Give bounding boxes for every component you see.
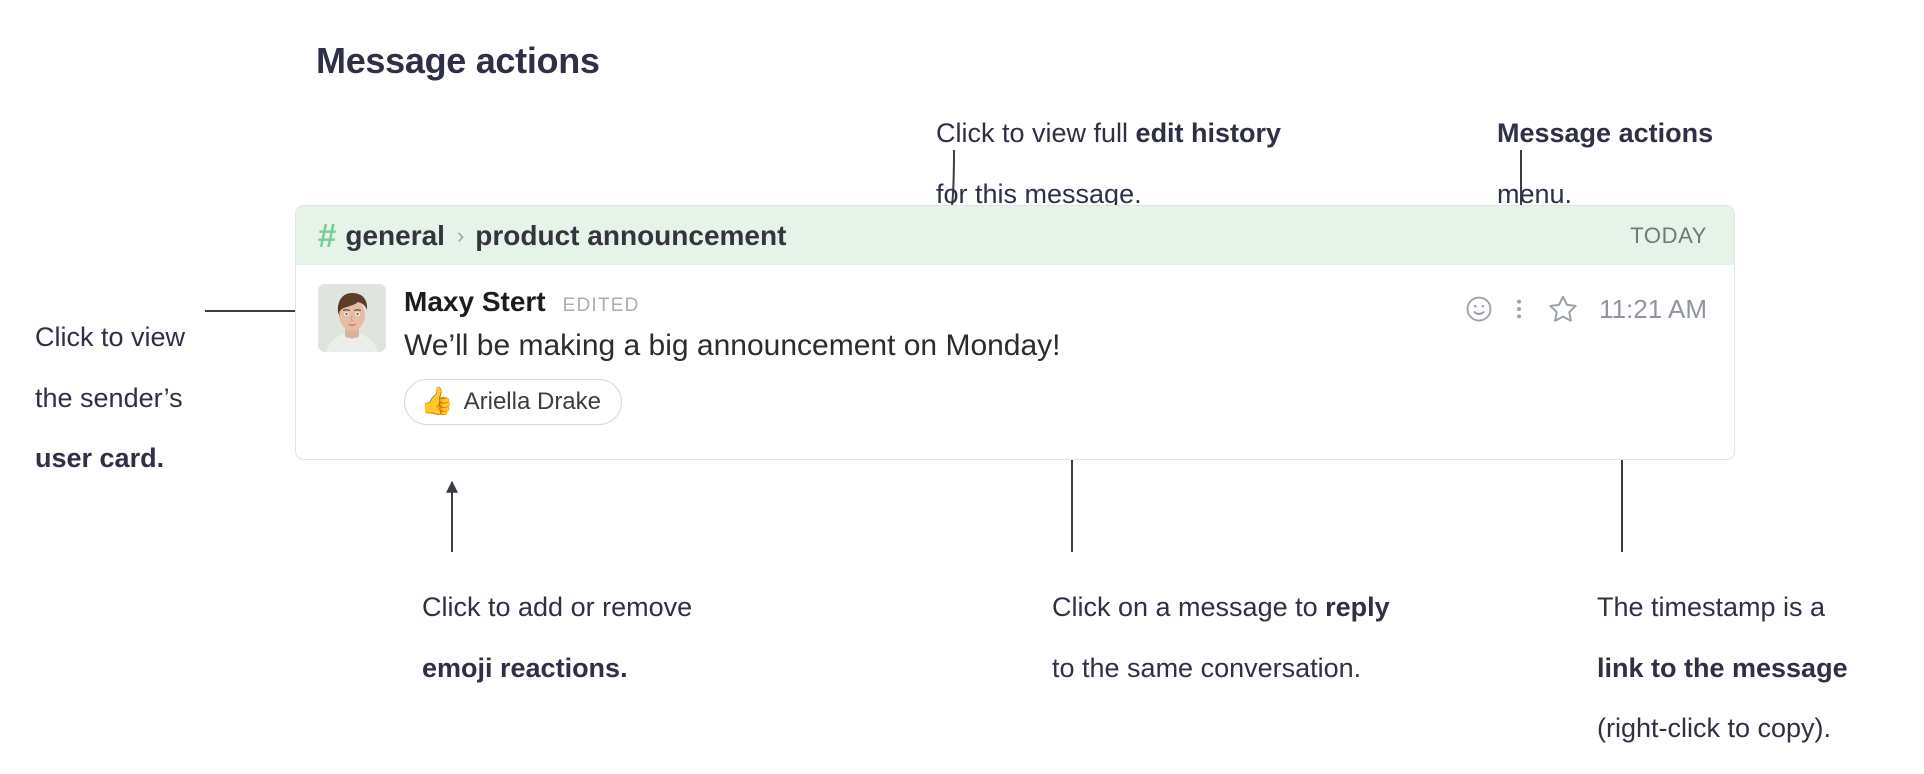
hash-icon: # <box>318 219 336 252</box>
annotation-line: link to the message <box>1597 653 1848 683</box>
annotation-emoji-reactions: Click to add or remove emoji reactions. <box>422 562 692 713</box>
star-icon[interactable] <box>1537 287 1589 331</box>
timestamp-link[interactable]: 11:21 AM <box>1599 294 1707 325</box>
actions-menu-icon[interactable] <box>1501 287 1537 331</box>
annotation-line: The timestamp is a <box>1597 592 1848 622</box>
annotation-user-card: Click to view the sender’s user card. <box>35 292 185 504</box>
annotation-line: Message actions <box>1497 118 1713 148</box>
reactions-list: 👍 Ariella Drake <box>404 379 1707 425</box>
annotation-text: Click on a message to <box>1052 592 1325 622</box>
message-row[interactable]: Maxy Stert EDITED We’ll be making a big … <box>296 265 1734 425</box>
annotation-line: Click on a message to reply <box>1052 592 1390 622</box>
annotation-text: Click to view full <box>936 118 1136 148</box>
annotated-diagram: Message actions Click to view full edit … <box>0 0 1924 696</box>
annotation-reply: Click on a message to reply to the same … <box>1052 562 1390 713</box>
annotation-line: Click to view <box>35 322 185 352</box>
thumbs-up-icon: 👍 <box>420 388 454 415</box>
date-label: TODAY <box>1630 223 1707 249</box>
annotation-emphasis: reply <box>1325 592 1390 622</box>
annotation-emphasis: edit history <box>1136 118 1282 148</box>
annotation-line: user card. <box>35 443 185 473</box>
edited-label[interactable]: EDITED <box>563 295 640 317</box>
annotation-line: the sender’s <box>35 383 185 413</box>
annotation-emphasis: Message actions <box>1497 118 1713 148</box>
annotation-line: to the same conversation. <box>1052 653 1390 683</box>
page-title: Message actions <box>316 40 600 82</box>
annotation-line: emoji reactions. <box>422 653 692 683</box>
chevron-right-icon: › <box>457 225 464 247</box>
sender-name[interactable]: Maxy Stert <box>404 286 546 318</box>
annotation-timestamp: The timestamp is a link to the message (… <box>1597 562 1848 774</box>
annotation-emphasis: emoji reactions. <box>422 653 628 683</box>
annotation-line: Click to add or remove <box>422 592 692 622</box>
annotation-emphasis: link to the message <box>1597 653 1848 683</box>
annotation-line: (right-click to copy). <box>1597 713 1848 743</box>
message-text[interactable]: We’ll be making a big announcement on Mo… <box>404 329 1707 364</box>
stream-name-link[interactable]: general <box>345 220 445 252</box>
reaction-pill[interactable]: 👍 Ariella Drake <box>404 379 622 425</box>
emoji-picker-icon[interactable] <box>1457 287 1501 331</box>
reaction-label: Ariella Drake <box>464 388 601 416</box>
annotation-emphasis: user card. <box>35 443 164 473</box>
message-card: # general › product announcement TODAY <box>295 205 1735 460</box>
topic-name-link[interactable]: product announcement <box>475 220 786 252</box>
annotation-line: Click to view full edit history <box>936 118 1281 148</box>
recipient-bar[interactable]: # general › product announcement TODAY <box>296 206 1734 265</box>
message-controls: 11:21 AM <box>1457 287 1707 331</box>
avatar[interactable] <box>318 284 386 352</box>
